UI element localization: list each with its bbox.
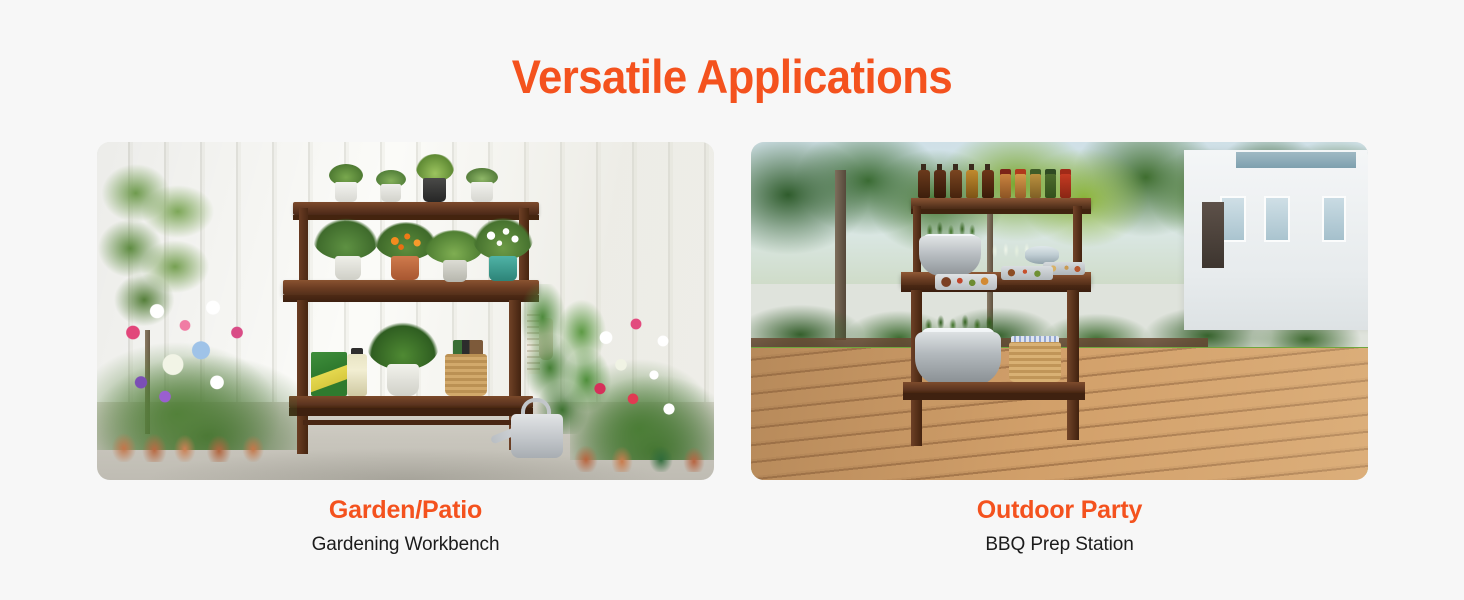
spice-jar-2: [1015, 174, 1026, 198]
sauce-bottle-4: [966, 170, 978, 198]
serving-cart: [901, 156, 1091, 452]
application-card-garden-patio[interactable]: Garden/Patio Gardening Workbench: [97, 142, 714, 562]
monstera-foliage: [367, 322, 439, 370]
cart-upper-shelf: [911, 198, 1091, 209]
bench-lower-shelf-edge: [289, 408, 533, 416]
wicker-tool-basket: [445, 354, 487, 396]
shelf-pot-black: [423, 178, 446, 202]
house-door: [1202, 202, 1224, 268]
cart-lower-shelf-edge: [903, 393, 1085, 400]
cart-lower-shelf: [903, 382, 1085, 393]
worktop-daisy-flowers: [473, 218, 533, 260]
worktop-pot-teal: [489, 256, 517, 281]
worktop-pot-grey: [443, 260, 467, 282]
application-cards: Garden/Patio Gardening Workbench: [97, 142, 1368, 562]
worktop-pot-white: [335, 256, 361, 280]
fertilizer-bottle: [347, 354, 367, 396]
bench-upper-post-left: [299, 208, 308, 286]
house-roof: [1236, 152, 1356, 168]
card-title-garden-patio: Garden/Patio: [329, 494, 482, 527]
house-window-3: [1322, 196, 1346, 242]
spice-jar-4: [1045, 174, 1056, 198]
garden-patio-photo: [97, 142, 714, 480]
shelf-pot-3: [471, 182, 493, 202]
cart-upper-shelf-edge: [911, 209, 1091, 214]
bench-worktop: [283, 280, 539, 295]
cart-leg-right: [1067, 290, 1079, 440]
bench-upper-shelf: [293, 202, 539, 215]
fertilizer-bag: [311, 352, 347, 396]
galvanized-tub: [915, 332, 1001, 386]
spice-jar-3: [1030, 174, 1041, 198]
wicker-basket: [1009, 342, 1061, 382]
section-heading: Versatile Applications: [51, 52, 1413, 101]
card-subtitle-outdoor-party: BBQ Prep Station: [985, 533, 1133, 558]
shelf-pot-2: [381, 184, 401, 202]
shelf-pot-1: [335, 182, 357, 202]
versatile-applications-section: Versatile Applications: [0, 0, 1464, 600]
bench-lower-shelf: [289, 396, 533, 408]
watering-can: [511, 414, 563, 458]
right-flower-pots: [562, 428, 712, 472]
left-flower-pots: [105, 416, 295, 462]
sauce-bottle-5: [982, 170, 994, 198]
card-title-outdoor-party: Outdoor Party: [977, 494, 1142, 527]
sauce-bottle-3: [950, 170, 962, 198]
spice-jar-5: [1060, 174, 1071, 198]
house-window-2: [1264, 196, 1290, 242]
sauce-bottle-2: [934, 170, 946, 198]
application-card-outdoor-party[interactable]: Outdoor Party BBQ Prep Station: [751, 142, 1368, 562]
sauce-bottle-1: [918, 170, 930, 198]
bench-worktop-edge: [283, 295, 539, 302]
worktop-pot-terracotta: [391, 256, 419, 280]
bench-leg-left: [297, 300, 308, 454]
house: [1184, 150, 1368, 330]
potting-bench: [283, 168, 539, 458]
monstera-pot: [387, 364, 419, 396]
worktop-ivy-foliage: [313, 218, 379, 260]
outdoor-party-photo: [751, 142, 1368, 480]
card-subtitle-garden-patio: Gardening Workbench: [312, 533, 500, 558]
bench-brace: [303, 420, 519, 425]
ice-bucket: [919, 236, 981, 276]
spice-jar-1: [1000, 174, 1011, 198]
steak-platter: [935, 274, 997, 290]
kebab-platter: [1001, 266, 1053, 280]
